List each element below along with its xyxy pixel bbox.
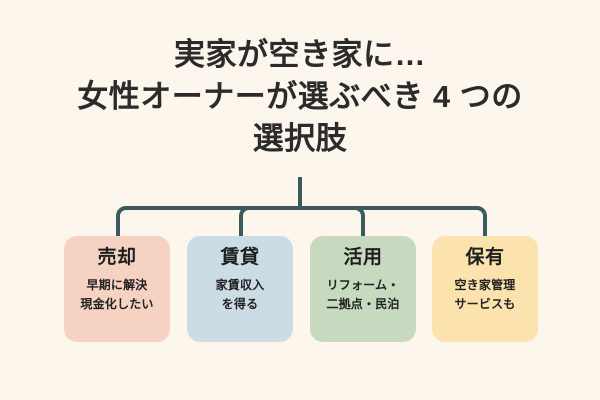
option-box-rent[interactable]: 賃貸 家賃収入 を得る	[187, 236, 293, 342]
option-title-sell: 売却	[97, 246, 136, 270]
option-desc-hold: 空き家管理 サービスも	[454, 276, 515, 314]
option-title-hold: 保有	[465, 246, 504, 270]
option-desc-hold-line-1: 空き家管理	[454, 276, 515, 295]
option-title-rent: 賃貸	[220, 246, 259, 270]
option-desc-rent-line-1: 家賃収入	[216, 276, 265, 295]
option-title-utilize: 活用	[343, 246, 382, 270]
title-line-3: 選択肢	[0, 118, 600, 160]
option-desc-utilize-line-2: 二拠点・民泊	[326, 295, 399, 314]
connector-branch-2	[241, 208, 300, 238]
title-line-1: 実家が空き家に…	[0, 34, 600, 76]
option-box-sell[interactable]: 売却 早期に解決 現金化したい	[64, 236, 170, 342]
page-title: 実家が空き家に… 女性オーナーが選ぶべき 4 つの 選択肢	[0, 34, 600, 160]
connector-branch-1	[118, 208, 300, 238]
title-line-2: 女性オーナーが選ぶべき 4 つの	[0, 76, 600, 118]
infographic-canvas: 実家が空き家に… 女性オーナーが選ぶべき 4 つの 選択肢 売却 早期に解決 現…	[0, 0, 600, 400]
option-desc-sell-line-2: 現金化したい	[80, 295, 153, 314]
option-desc-utilize: リフォーム・ 二拠点・民泊	[326, 276, 399, 314]
option-desc-rent: 家賃収入 を得る	[216, 276, 265, 314]
option-desc-sell-line-1: 早期に解決	[80, 276, 153, 295]
option-box-utilize[interactable]: 活用 リフォーム・ 二拠点・民泊	[310, 236, 416, 342]
option-desc-sell: 早期に解決 現金化したい	[80, 276, 153, 314]
options-row: 売却 早期に解決 現金化したい 賃貸 家賃収入 を得る 活用 リフォーム・ 二拠…	[0, 236, 600, 342]
option-desc-utilize-line-1: リフォーム・	[326, 276, 399, 295]
connector-branch-3	[300, 208, 363, 238]
option-desc-rent-line-2: を得る	[216, 295, 265, 314]
option-box-hold[interactable]: 保有 空き家管理 サービスも	[432, 236, 538, 342]
connector-branch-4	[300, 208, 485, 238]
option-desc-hold-line-2: サービスも	[454, 295, 515, 314]
